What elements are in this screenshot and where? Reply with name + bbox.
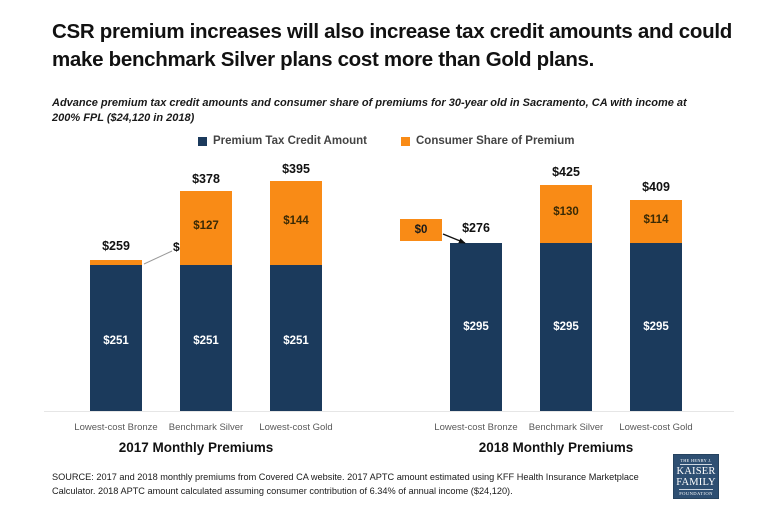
category-label-2017-lowest-cost-bronze: Lowest-cost Bronze [66, 422, 166, 433]
bar-segment-consumer-share: $130 [540, 185, 592, 243]
bar-value-premium-tax-credit: $295 [630, 321, 682, 333]
chart-plot-area: $251 $259 $8 $127 $251 $378 $144 $251 [0, 0, 770, 513]
group-label-2018: 2018 Monthly Premiums [436, 440, 676, 455]
bar-2017-benchmark-silver: $127 $251 [180, 191, 232, 411]
bar-segment-premium-tax-credit: $251 [90, 265, 142, 411]
bar-segment-consumer-share: $127 [180, 191, 232, 265]
bar-segment-premium-tax-credit: $295 [630, 243, 682, 411]
bar-value-consumer-share: $130 [540, 206, 592, 218]
bar-2018-lowest-cost-gold: $114 $295 [630, 200, 682, 411]
bar-value-consumer-share: $114 [630, 214, 682, 226]
bar-total-2018-lowest-cost-gold: $409 [621, 180, 691, 194]
bar-value-premium-tax-credit: $251 [90, 335, 142, 347]
bar-total-2018-benchmark-silver: $425 [531, 165, 601, 179]
bar-2018-lowest-cost-bronze: $295 [450, 243, 502, 411]
bar-total-2017-lowest-cost-bronze: $259 [81, 239, 151, 253]
bar-value-2018-bronze-consumer-share: $0 [415, 224, 428, 236]
source-note: SOURCE: 2017 and 2018 monthly premiums f… [52, 470, 652, 498]
bar-segment-premium-tax-credit: $251 [270, 265, 322, 411]
category-label-2017-lowest-cost-gold: Lowest-cost Gold [246, 422, 346, 433]
bar-segment-premium-tax-credit: $251 [180, 265, 232, 411]
bar-value-consumer-share: $144 [270, 215, 322, 227]
bar-total-2017-benchmark-silver: $378 [171, 172, 241, 186]
logo-line-kaiser: KAISER [676, 466, 715, 477]
category-label-2018-benchmark-silver: Benchmark Silver [516, 422, 616, 433]
bar-segment-consumer-share: $144 [270, 181, 322, 265]
logo-line-family: FAMILY [676, 477, 716, 488]
category-label-2018-lowest-cost-gold: Lowest-cost Gold [606, 422, 706, 433]
group-label-2017: 2017 Monthly Premiums [76, 440, 316, 455]
bar-value-consumer-share: $127 [180, 220, 232, 232]
bar-segment-consumer-share: $114 [630, 200, 682, 243]
callout-box-2018-bronze-consumer-share: $0 [400, 219, 442, 241]
bar-total-2018-lowest-cost-bronze: $276 [441, 221, 511, 235]
bar-2018-benchmark-silver: $130 $295 [540, 185, 592, 411]
bar-2017-lowest-cost-gold: $144 $251 [270, 181, 322, 411]
bar-total-2017-lowest-cost-gold: $395 [261, 162, 331, 176]
bar-value-premium-tax-credit: $251 [180, 335, 232, 347]
kff-logo: THE HENRY J. KAISER FAMILY FOUNDATION [673, 454, 719, 499]
slide-canvas: CSR premium increases will also increase… [0, 0, 770, 513]
bar-2017-lowest-cost-bronze: $251 [90, 260, 142, 411]
logo-line-the-henry-j: THE HENRY J. [680, 458, 711, 465]
bar-segment-premium-tax-credit: $295 [540, 243, 592, 411]
category-label-2017-benchmark-silver: Benchmark Silver [156, 422, 256, 433]
bar-segment-premium-tax-credit: $295 [450, 243, 502, 411]
x-axis-line [44, 411, 734, 412]
bar-value-premium-tax-credit: $251 [270, 335, 322, 347]
bar-value-premium-tax-credit: $295 [540, 321, 592, 333]
bar-value-premium-tax-credit: $295 [450, 321, 502, 333]
logo-line-foundation: FOUNDATION [679, 489, 713, 496]
category-label-2018-lowest-cost-bronze: Lowest-cost Bronze [426, 422, 526, 433]
